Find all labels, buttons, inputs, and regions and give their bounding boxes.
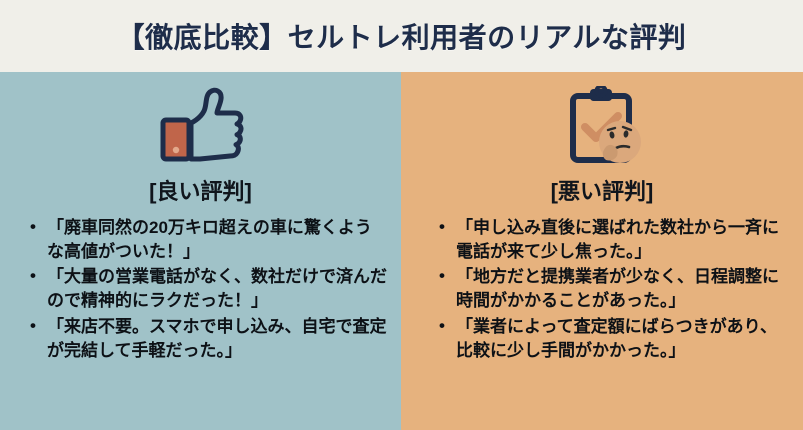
list-item: 「廃車同然の20万キロ超えの車に驚くような高値がついた！」 bbox=[30, 216, 387, 264]
bad-reviews-list: 「申し込み直後に選ばれた数社から一斉に電話が来て少し焦った。」 「地方だと提携業… bbox=[401, 216, 803, 363]
bad-icon-wrap bbox=[401, 72, 803, 172]
clipboard-thinking-icon bbox=[559, 86, 645, 166]
list-item: 「申し込み直後に選ばれた数社から一斉に電話が来て少し焦った。」 bbox=[439, 216, 791, 264]
panels-container: [良い評判] 「廃車同然の20万キロ超えの車に驚くような高値がついた！」 「大量… bbox=[0, 72, 803, 430]
comparison-infographic: 【徹底比較】セルトレ利用者のリアルな評判 [良い評判] 「廃車同然の20万キロ超… bbox=[0, 0, 803, 430]
header-band: 【徹底比較】セルトレ利用者のリアルな評判 bbox=[0, 0, 803, 72]
list-item: 「業者によって査定額にばらつきがあり、比較に少し手間がかかった。」 bbox=[439, 315, 791, 363]
thumbs-up-icon bbox=[158, 86, 244, 166]
good-panel-heading: [良い評判] bbox=[0, 174, 401, 206]
panel-bad-reviews: [悪い評判] 「申し込み直後に選ばれた数社から一斉に電話が来て少し焦った。」 「… bbox=[401, 72, 803, 430]
bad-panel-heading: [悪い評判] bbox=[401, 174, 803, 206]
page-title: 【徹底比較】セルトレ利用者のリアルな評判 bbox=[117, 16, 687, 56]
good-reviews-list: 「廃車同然の20万キロ超えの車に驚くような高値がついた！」 「大量の営業電話がな… bbox=[0, 216, 401, 363]
panel-good-reviews: [良い評判] 「廃車同然の20万キロ超えの車に驚くような高値がついた！」 「大量… bbox=[0, 72, 401, 430]
list-item: 「地方だと提携業者が少なく、日程調整に時間がかかることがあった。」 bbox=[439, 265, 791, 313]
list-item: 「来店不要。スマホで申し込み、自宅で査定が完結して手軽だった。」 bbox=[30, 315, 387, 363]
good-icon-wrap bbox=[0, 72, 401, 172]
list-item: 「大量の営業電話がなく、数社だけで済んだので精神的にラクだった！」 bbox=[30, 265, 387, 313]
